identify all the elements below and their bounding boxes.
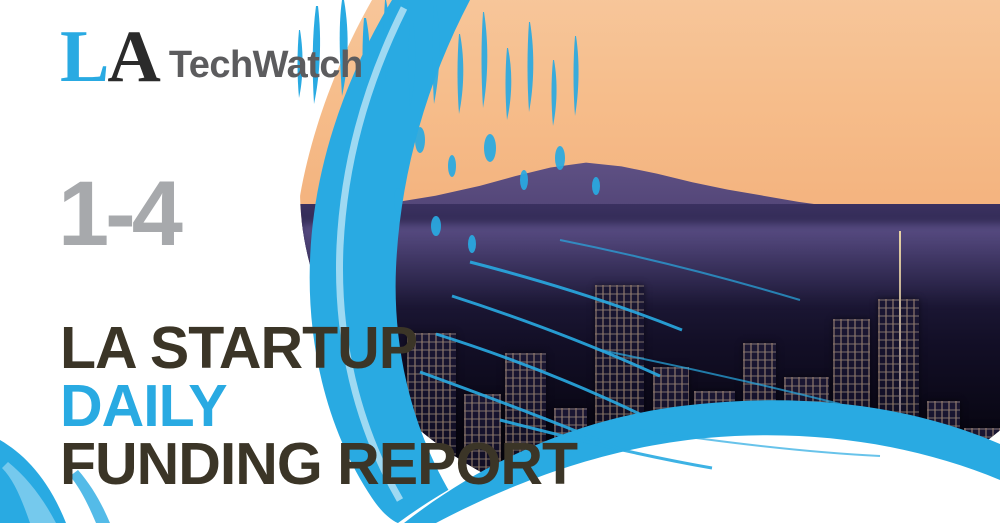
poster-canvas: LA TechWatch 1-4 LA STARTUP DAILY FUNDIN… [0, 0, 1000, 523]
brush-corner-wisp [2, 462, 56, 523]
headline-line-2: DAILY [60, 378, 577, 436]
logo-letter-l: L [60, 16, 107, 98]
logo-la-mark: LA [60, 24, 159, 91]
issue-number: 1-4 [58, 168, 179, 260]
headline-line-1: LA STARTUP [60, 320, 577, 378]
brand-logo[interactable]: LA TechWatch [60, 24, 363, 91]
headline-line-3: FUNDING REPORT [60, 436, 577, 494]
logo-wordmark: TechWatch [169, 44, 363, 87]
page-title: LA STARTUP DAILY FUNDING REPORT [60, 320, 577, 493]
logo-letter-a: A [107, 16, 158, 98]
brush-corner-bottom-left [0, 440, 66, 523]
